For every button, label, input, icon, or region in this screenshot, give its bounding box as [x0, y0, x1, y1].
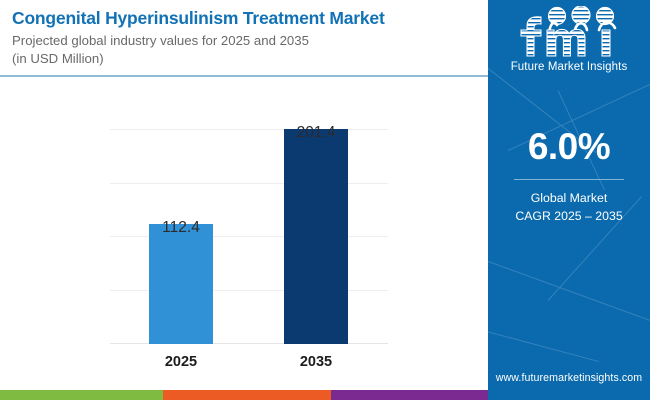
cagr-divider [514, 179, 624, 180]
accent-segment-green [0, 390, 163, 400]
accent-segment-purple [331, 390, 488, 400]
fmi-letter-f [521, 17, 541, 56]
accent-segment-orange [163, 390, 331, 400]
website-url[interactable]: www.futuremarketinsights.com [488, 372, 650, 384]
cagr-block: 6.0% Global Market CAGR 2025 – 2035 [488, 128, 650, 226]
cagr-caption-line2: CAGR 2025 – 2035 [488, 208, 650, 226]
x-tick-label-2025: 2025 [136, 354, 226, 370]
bar-value-2025: 112.4 [136, 219, 226, 237]
header-block: Congenital Hyperinsulinism Treatment Mar… [12, 8, 482, 68]
fmi-letter-i [602, 30, 610, 56]
page-subtitle: Projected global industry values for 202… [12, 32, 482, 50]
cagr-caption-line1: Global Market [488, 190, 650, 208]
page-title: Congenital Hyperinsulinism Treatment Mar… [12, 8, 482, 30]
brand-panel: Future Market Insights 6.0% Global Marke… [488, 0, 650, 400]
fmi-letter-m [547, 29, 585, 56]
plot-area: 112.4 201.4 2025 2035 [110, 129, 388, 344]
infographic-root: Congenital Hyperinsulinism Treatment Mar… [0, 0, 650, 400]
chart-panel: Congenital Hyperinsulinism Treatment Mar… [0, 0, 488, 400]
x-tick-label-2035: 2035 [271, 354, 361, 370]
fmi-logo: Future Market Insights [488, 6, 650, 73]
fmi-logo-mark [505, 6, 633, 58]
bar-2025[interactable] [149, 224, 213, 344]
header-divider [0, 75, 488, 77]
cagr-value: 6.0% [488, 128, 650, 165]
bar-2035[interactable] [284, 129, 348, 344]
bar-value-2035: 201.4 [271, 124, 361, 142]
fmi-logo-tagline: Future Market Insights [488, 61, 650, 73]
bar-chart: 112.4 201.4 2025 2035 [0, 84, 488, 384]
fmi-logo-svg [505, 6, 633, 58]
accent-bar [0, 390, 488, 400]
fmi-logo-emblems [549, 6, 616, 32]
page-subtitle-units: (in USD Million) [12, 50, 482, 68]
